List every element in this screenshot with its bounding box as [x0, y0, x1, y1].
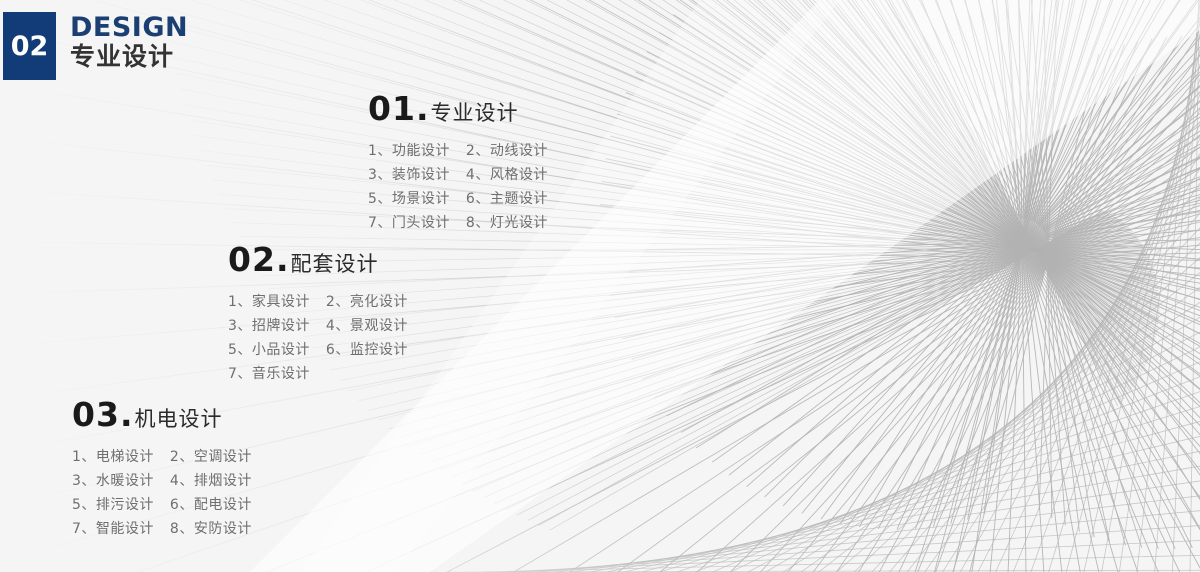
list-row: 3、装饰设计 4、风格设计 — [368, 163, 548, 187]
list-item: 6、监控设计 — [326, 338, 408, 362]
list-item: 6、主题设计 — [466, 187, 548, 211]
section-number-02: 02 — [228, 243, 276, 276]
list-row: 3、水暖设计 4、排烟设计 — [72, 469, 252, 493]
list-item: 1、家具设计 — [228, 290, 310, 314]
section-heading-02: 02 . 配套设计 — [228, 243, 408, 276]
list-row: 3、招牌设计 4、景观设计 — [228, 314, 408, 338]
section-dot-03: . — [120, 398, 133, 431]
header-title-group: DESIGN 专业设计 — [70, 12, 188, 72]
list-item: 7、音乐设计 — [228, 362, 310, 386]
section-title-03: 机电设计 — [134, 409, 222, 430]
list-item: 5、小品设计 — [228, 338, 310, 362]
page-title-cn: 专业设计 — [70, 43, 188, 72]
list-row: 5、排污设计 6、配电设计 — [72, 493, 252, 517]
section-number-01: 01 — [368, 92, 416, 125]
list-item: 5、场景设计 — [368, 187, 450, 211]
list-row: 1、功能设计 2、动线设计 — [368, 139, 548, 163]
list-row: 1、电梯设计 2、空调设计 — [72, 445, 252, 469]
list-item: 1、功能设计 — [368, 139, 450, 163]
badge-number-label: 02 — [11, 33, 49, 60]
section-block-02: 02 . 配套设计 1、家具设计 2、亮化设计 3、招牌设计 4、景观设计 5、… — [228, 243, 408, 386]
list-row: 7、智能设计 8、安防设计 — [72, 517, 252, 541]
section-dot-02: . — [276, 243, 289, 276]
list-item: 3、水暖设计 — [72, 469, 154, 493]
list-item: 5、排污设计 — [72, 493, 154, 517]
slide-header: 02 DESIGN 专业设计 — [3, 12, 188, 80]
section-heading-03: 03 . 机电设计 — [72, 398, 252, 431]
section-list-01: 1、功能设计 2、动线设计 3、装饰设计 4、风格设计 5、场景设计 6、主题设… — [368, 139, 548, 235]
list-row: 1、家具设计 2、亮化设计 — [228, 290, 408, 314]
section-block-01: 01 . 专业设计 1、功能设计 2、动线设计 3、装饰设计 4、风格设计 5、… — [368, 92, 548, 235]
section-list-02: 1、家具设计 2、亮化设计 3、招牌设计 4、景观设计 5、小品设计 6、监控设… — [228, 290, 408, 386]
list-item: 4、风格设计 — [466, 163, 548, 187]
list-item: 4、景观设计 — [326, 314, 408, 338]
list-item: 3、招牌设计 — [228, 314, 310, 338]
section-block-03: 03 . 机电设计 1、电梯设计 2、空调设计 3、水暖设计 4、排烟设计 5、… — [72, 398, 252, 541]
list-item: 1、电梯设计 — [72, 445, 154, 469]
section-number-03: 03 — [72, 398, 120, 431]
list-item: 7、智能设计 — [72, 517, 154, 541]
list-item: 2、空调设计 — [170, 445, 252, 469]
page-title-en: DESIGN — [70, 14, 188, 42]
list-item: 2、动线设计 — [466, 139, 548, 163]
section-list-03: 1、电梯设计 2、空调设计 3、水暖设计 4、排烟设计 5、排污设计 6、配电设… — [72, 445, 252, 541]
section-heading-01: 01 . 专业设计 — [368, 92, 548, 125]
list-row: 5、场景设计 6、主题设计 — [368, 187, 548, 211]
section-number-badge: 02 — [3, 12, 56, 80]
list-item: 2、亮化设计 — [326, 290, 408, 314]
list-item: 4、排烟设计 — [170, 469, 252, 493]
section-dot-01: . — [416, 92, 429, 125]
list-item: 3、装饰设计 — [368, 163, 450, 187]
section-title-01: 专业设计 — [430, 103, 518, 124]
list-item: 6、配电设计 — [170, 493, 252, 517]
list-row: 5、小品设计 6、监控设计 — [228, 338, 408, 362]
slide-canvas: 02 DESIGN 专业设计 01 . 专业设计 1、功能设计 2、动线设计 3… — [0, 0, 1200, 572]
list-item: 7、门头设计 — [368, 211, 450, 235]
list-row: 7、门头设计 8、灯光设计 — [368, 211, 548, 235]
section-title-02: 配套设计 — [290, 254, 378, 275]
list-row: 7、音乐设计 — [228, 362, 408, 386]
list-item: 8、安防设计 — [170, 517, 252, 541]
list-item: 8、灯光设计 — [466, 211, 548, 235]
